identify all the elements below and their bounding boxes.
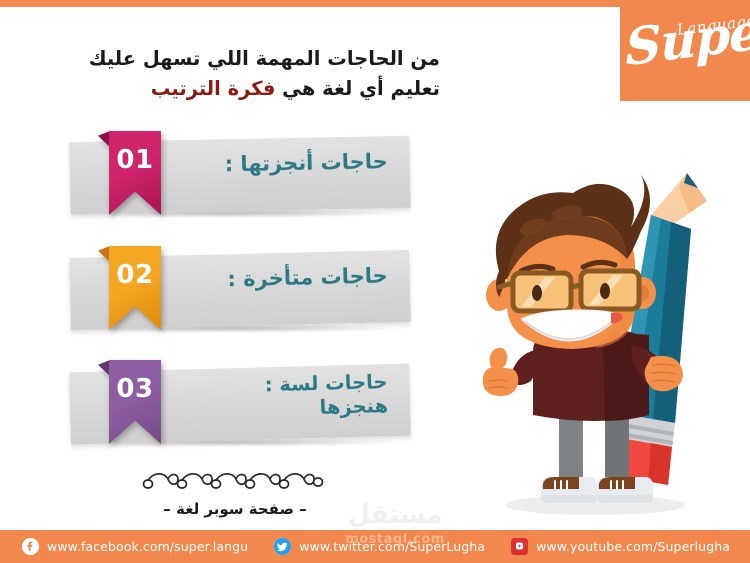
- headline-line-2-prefix: تعليم أي لغة هي: [275, 77, 440, 100]
- boy-with-pencil-illustration: [455, 155, 745, 530]
- brand-logo-inner: Super Language: [620, 7, 750, 101]
- item-label-line-2: هنجزها: [138, 395, 389, 426]
- left-arm-thumbs-up: [483, 348, 541, 396]
- legs: [559, 413, 629, 485]
- twitter-icon: [274, 538, 291, 555]
- item-label: حاجات لسة : هنجزها: [137, 370, 388, 425]
- social-link-youtube[interactable]: www.youtube.com/Superlugha: [511, 538, 730, 555]
- swirl-ornament-icon: [140, 470, 330, 496]
- item-label: حاجات أنجزتها :: [138, 148, 388, 179]
- page-headline: من الحاجات المهمة اللي تسهل عليك تعليم أ…: [40, 44, 440, 104]
- twitter-url: www.twitter.com/SuperLugha: [299, 539, 485, 554]
- social-footer: www.facebook.com/super.langu www.twitter…: [0, 530, 750, 563]
- top-accent-strip: [0, 0, 750, 7]
- list-item[interactable]: حاجات أنجزتها : 01: [60, 131, 410, 223]
- head: [486, 175, 656, 349]
- page-signature: – صفحة سوبر لغة –: [120, 500, 350, 518]
- youtube-icon: [511, 538, 528, 555]
- brand-logo-block: Super Language: [620, 7, 750, 101]
- facebook-icon: [22, 538, 39, 555]
- social-link-twitter[interactable]: www.twitter.com/SuperLugha: [274, 538, 485, 555]
- list-item[interactable]: حاجات لسة : هنجزها 03: [60, 360, 410, 452]
- item-number: 02: [109, 260, 161, 290]
- youtube-url: www.youtube.com/Superlugha: [536, 539, 730, 554]
- headline-line-1: من الحاجات المهمة اللي تسهل عليك: [40, 44, 440, 74]
- ribbon-badge-03: 03: [109, 360, 161, 444]
- headline-line-2: تعليم أي لغة هي فكرة الترتيب: [40, 74, 440, 104]
- social-link-facebook[interactable]: www.facebook.com/super.langu: [22, 538, 248, 555]
- infographic-poster: Super Language من الحاجات المهمة اللي تس…: [0, 0, 750, 563]
- list-item[interactable]: حاجات متأخرة : 02: [60, 246, 410, 338]
- facebook-url: www.facebook.com/super.langu: [47, 539, 248, 554]
- glasses-icon: [499, 271, 639, 311]
- headline-accent: فكرة الترتيب: [151, 77, 276, 100]
- item-number: 03: [109, 374, 161, 404]
- item-label: حاجات متأخرة :: [137, 262, 388, 294]
- ribbon-badge-01: 01: [109, 131, 161, 215]
- ribbon-badge-02: 02: [109, 246, 161, 330]
- item-number: 01: [109, 145, 161, 175]
